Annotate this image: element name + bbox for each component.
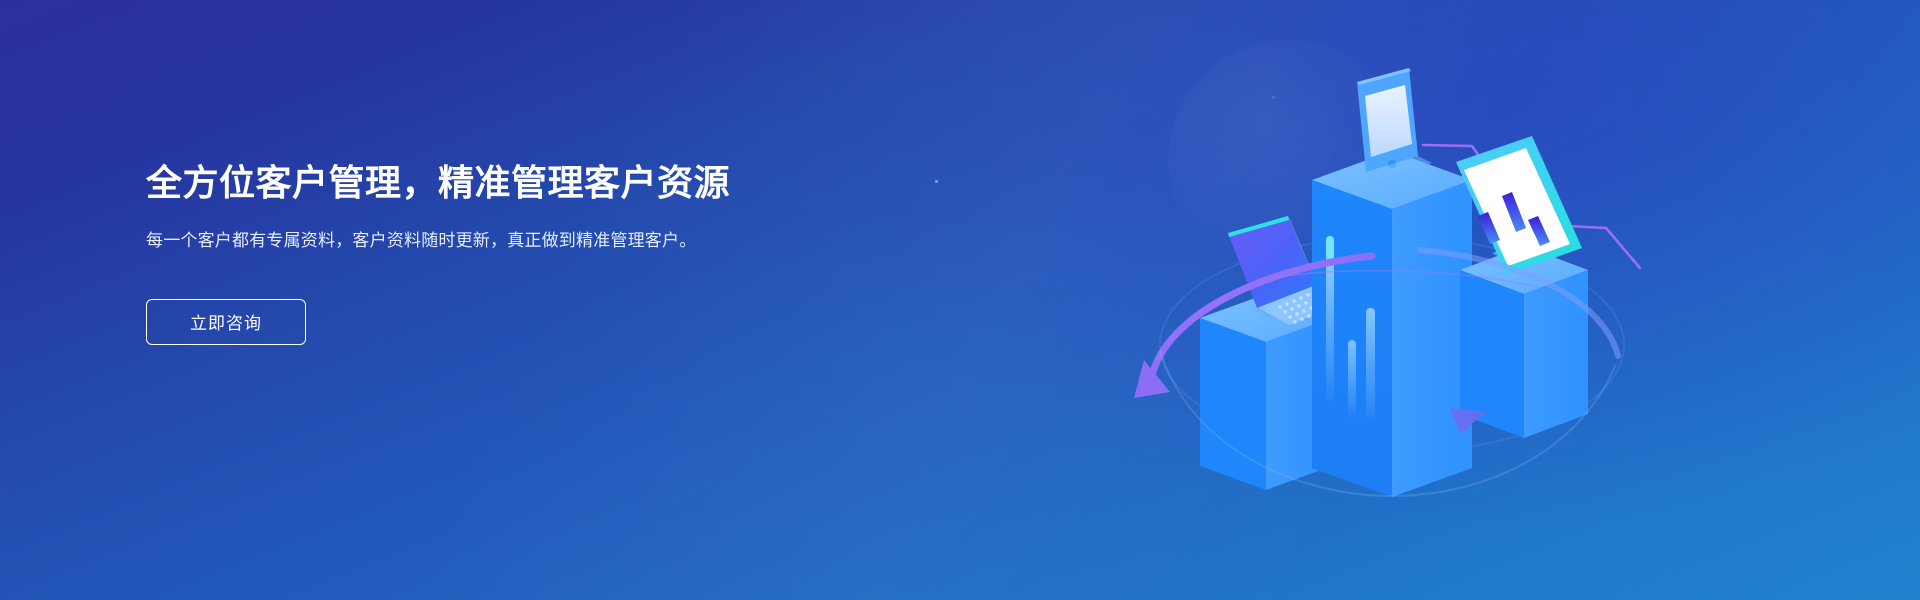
hero-banner: 全方位客户管理，精准管理客户资源 每一个客户都有专属资料，客户资料随时更新，真正… — [0, 0, 1920, 600]
center-pillar — [1312, 151, 1472, 497]
page-title: 全方位客户管理，精准管理客户资源 — [146, 160, 786, 205]
hero-copy-block: 全方位客户管理，精准管理客户资源 每一个客户都有专属资料，客户资料随时更新，真正… — [146, 160, 786, 345]
consult-now-button[interactable]: 立即咨询 — [146, 299, 306, 345]
tablet-icon — [1357, 68, 1432, 180]
sparkle-dot — [935, 180, 938, 183]
hero-illustration — [1120, 20, 1660, 580]
hero-subtitle: 每一个客户都有专属资料，客户资料随时更新，真正做到精准管理客户。 — [146, 227, 736, 255]
monitor-with-chart-icon — [1456, 136, 1582, 274]
